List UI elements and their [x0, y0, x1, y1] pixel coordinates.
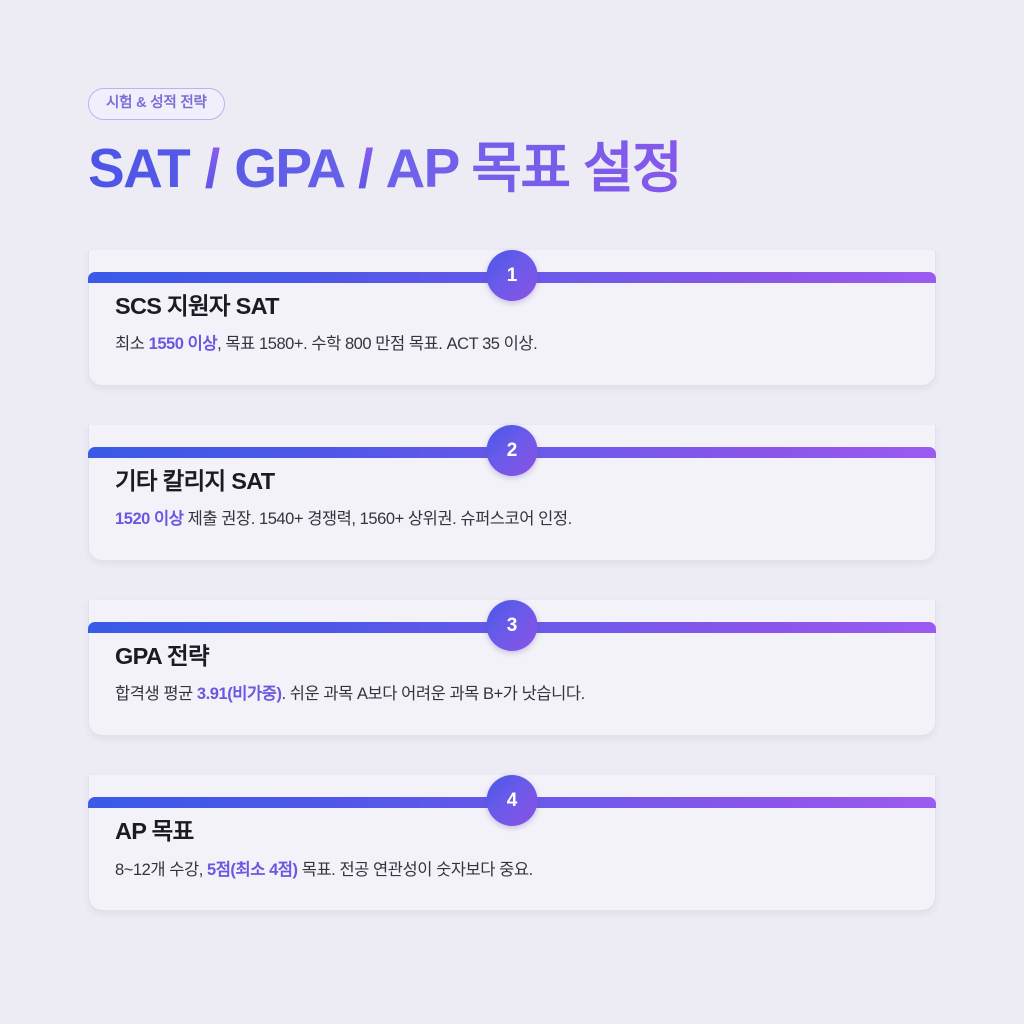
step-number-badge: 3 [487, 600, 538, 651]
step-card: AP 목표8~12개 수강, 5점(최소 4점) 목표. 전공 연관성이 숫자보… [88, 775, 936, 911]
category-badge: 시험 & 성적 전략 [88, 88, 225, 120]
step-number-badge: 4 [487, 775, 538, 826]
title-part-gpa: GPA [234, 137, 342, 199]
title-slash-1: / [203, 137, 221, 199]
card-content: AP 목표8~12개 수강, 5점(최소 4점) 목표. 전공 연관성이 숫자보… [89, 817, 935, 882]
body-text: 8~12개 수강, [115, 861, 207, 879]
title-part-ap-goal: AP 목표 설정 [385, 137, 681, 199]
body-text: 최소 [115, 335, 149, 353]
card-content: 기타 칼리지 SAT1520 이상 제출 권장. 1540+ 경쟁력, 1560… [89, 467, 935, 532]
page-title: SAT / GPA / AP 목표 설정 [88, 138, 948, 200]
title-part-sat: SAT [88, 137, 189, 199]
card-body: 8~12개 수강, 5점(최소 4점) 목표. 전공 연관성이 숫자보다 중요. [115, 859, 909, 883]
body-text: 목표. 전공 연관성이 숫자보다 중요. [298, 861, 533, 879]
body-text: . 쉬운 과목 A보다 어려운 과목 B+가 낫습니다. [282, 685, 585, 703]
card-list: SCS 지원자 SAT최소 1550 이상, 목표 1580+. 수학 800 … [88, 222, 936, 911]
step-card: GPA 전략합격생 평균 3.91(비가중). 쉬운 과목 A보다 어려운 과목… [88, 600, 936, 736]
card-content: SCS 지원자 SAT최소 1550 이상, 목표 1580+. 수학 800 … [89, 292, 935, 357]
card-body: 최소 1550 이상, 목표 1580+. 수학 800 만점 목표. ACT … [115, 333, 909, 357]
body-highlight: 3.91(비가중) [197, 685, 282, 703]
body-highlight: 5점(최소 4점) [207, 861, 298, 879]
body-text: 제출 권장. 1540+ 경쟁력, 1560+ 상위권. 슈퍼스코어 인정. [184, 510, 572, 528]
body-highlight: 1550 이상 [149, 335, 218, 353]
infographic-page: 시험 & 성적 전략 SAT / GPA / AP 목표 설정 SCS 지원자 … [0, 0, 1024, 1024]
step-card: 기타 칼리지 SAT1520 이상 제출 권장. 1540+ 경쟁력, 1560… [88, 425, 936, 561]
header: 시험 & 성적 전략 SAT / GPA / AP 목표 설정 [88, 88, 948, 199]
body-highlight: 1520 이상 [115, 510, 184, 528]
step-card: SCS 지원자 SAT최소 1550 이상, 목표 1580+. 수학 800 … [88, 250, 936, 386]
body-text: , 목표 1580+. 수학 800 만점 목표. ACT 35 이상. [217, 335, 537, 353]
step-number-badge: 2 [487, 425, 538, 476]
body-text: 합격생 평균 [115, 685, 197, 703]
card-body: 1520 이상 제출 권장. 1540+ 경쟁력, 1560+ 상위권. 슈퍼스… [115, 508, 909, 532]
title-slash-2: / [356, 137, 374, 199]
card-body: 합격생 평균 3.91(비가중). 쉬운 과목 A보다 어려운 과목 B+가 낫… [115, 683, 909, 707]
step-number-badge: 1 [487, 250, 538, 301]
card-content: GPA 전략합격생 평균 3.91(비가중). 쉬운 과목 A보다 어려운 과목… [89, 642, 935, 707]
